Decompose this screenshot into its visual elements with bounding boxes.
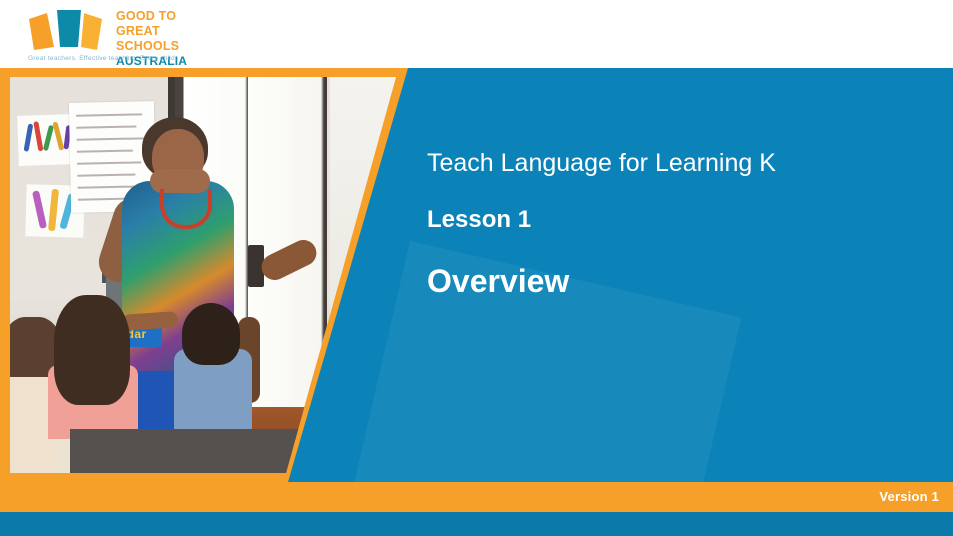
section-title: Overview [427, 262, 927, 300]
version-label: Version 1 [879, 489, 939, 504]
photo-child-3-hair [182, 303, 240, 365]
course-title: Teach Language for Learning K [427, 148, 927, 178]
photo-childrens-artwork-1 [17, 114, 77, 166]
slide-header: GOOD TO GREAT SCHOOLS AUSTRALIA Great te… [0, 0, 953, 68]
lesson-label: Lesson 1 [427, 206, 927, 234]
footer-orange-band [0, 482, 953, 512]
title-block: Teach Language for Learning K Lesson 1 O… [427, 148, 927, 300]
logo-line-2: GREAT [116, 25, 216, 38]
brand-logo: GOOD TO GREAT SCHOOLS AUSTRALIA Great te… [28, 5, 208, 65]
footer-blue-band [0, 512, 953, 536]
logo-tagline: Great teachers. Effective teaching. Ever… [28, 55, 177, 62]
logo-line-3: SCHOOLS [116, 40, 216, 53]
photo-child-2-hair [54, 295, 130, 405]
logo-mark-icon [28, 9, 110, 51]
logo-line-1: GOOD TO [116, 10, 216, 23]
slide: GOOD TO GREAT SCHOOLS AUSTRALIA Great te… [0, 0, 953, 536]
